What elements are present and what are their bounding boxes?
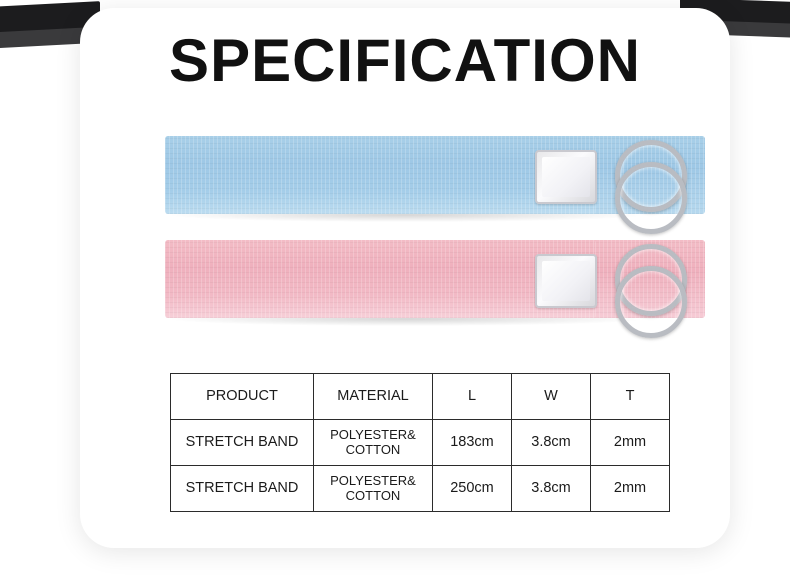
- table-row: STRETCH BAND POLYESTER& COTTON 250cm 3.8…: [171, 466, 670, 512]
- page-title: SPECIFICATION: [80, 26, 730, 95]
- cell-material-line2: COTTON: [314, 489, 432, 504]
- cell-length: 183cm: [433, 420, 512, 466]
- table-header-row: PRODUCT MATERIAL L W T: [171, 374, 670, 420]
- specification-table: PRODUCT MATERIAL L W T STRETCH BAND POLY…: [170, 373, 670, 512]
- cell-product: STRETCH BAND: [171, 420, 314, 466]
- table-row: STRETCH BAND POLYESTER& COTTON 183cm 3.8…: [171, 420, 670, 466]
- spec-card: SPECIFICATION: [80, 8, 730, 548]
- product-image-pink-stretch-band: [165, 240, 685, 340]
- metal-label-plate-inner-blue: [542, 157, 590, 197]
- d-ring-lower-blue: [615, 162, 687, 234]
- table-header-width: W: [512, 374, 591, 420]
- cell-thickness: 2mm: [591, 466, 670, 512]
- cell-material: POLYESTER& COTTON: [314, 466, 433, 512]
- metal-label-plate-inner-pink: [542, 261, 590, 301]
- cell-width: 3.8cm: [512, 466, 591, 512]
- cell-width: 3.8cm: [512, 420, 591, 466]
- cell-material-line1: POLYESTER&: [314, 428, 432, 443]
- cell-material-line2: COTTON: [314, 443, 432, 458]
- background-strip-left-secondary: [0, 28, 85, 49]
- product-image-blue-stretch-band: [165, 136, 685, 236]
- cell-thickness: 2mm: [591, 420, 670, 466]
- page-root: SPECIFICATION: [0, 0, 790, 580]
- cell-material-line1: POLYESTER&: [314, 474, 432, 489]
- table-header-product: PRODUCT: [171, 374, 314, 420]
- table-header-material: MATERIAL: [314, 374, 433, 420]
- metal-label-plate-blue: [535, 150, 597, 204]
- d-ring-lower-pink: [615, 266, 687, 338]
- cell-product: STRETCH BAND: [171, 466, 314, 512]
- metal-label-plate-pink: [535, 254, 597, 308]
- table-header-length: L: [433, 374, 512, 420]
- table-header-thickness: T: [591, 374, 670, 420]
- cell-material: POLYESTER& COTTON: [314, 420, 433, 466]
- cell-length: 250cm: [433, 466, 512, 512]
